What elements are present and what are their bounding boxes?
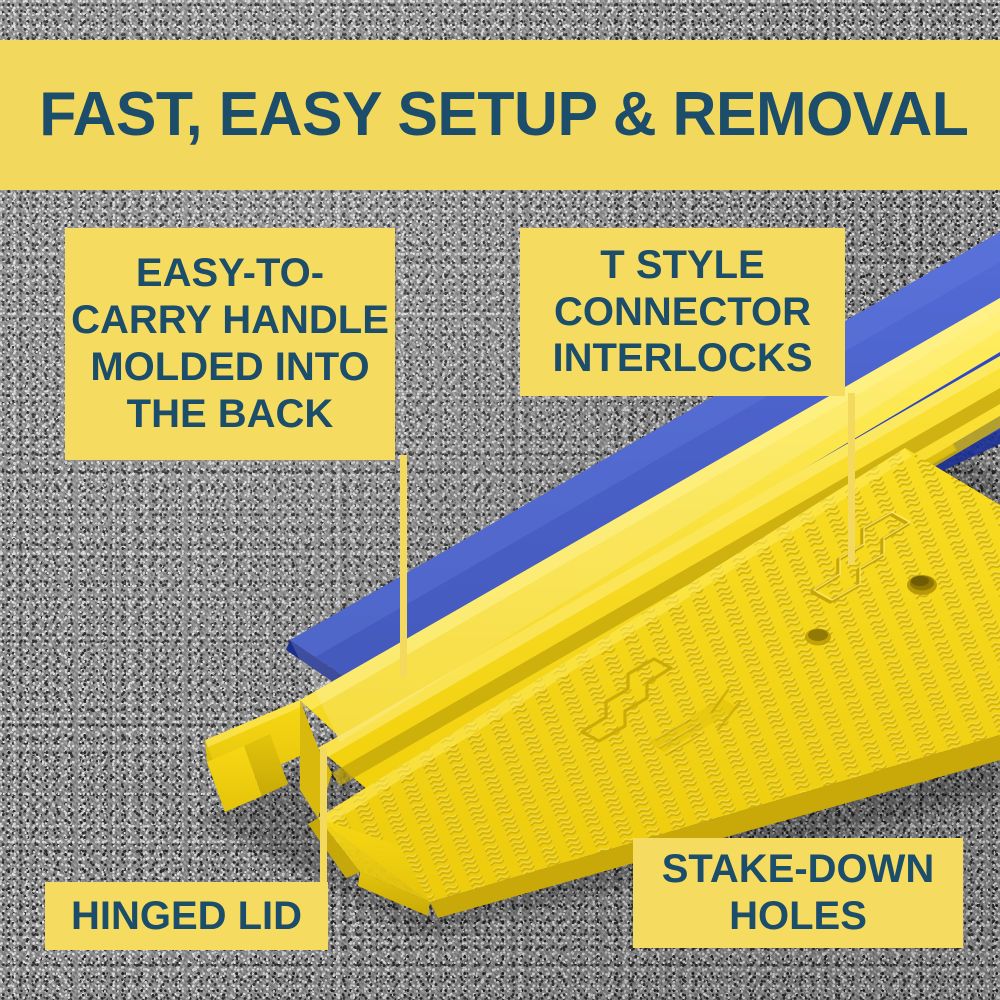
callout-line: HINGED LID (71, 893, 302, 940)
leader-line-hinged-lid (320, 748, 327, 888)
callout-line: CARRY HANDLE (71, 297, 389, 344)
callout-easy-to-carry-handle: EASY-TO- CARRY HANDLE MOLDED INTO THE BA… (65, 228, 395, 460)
callout-line: THE BACK (127, 391, 334, 438)
callout-line: STAKE-DOWN (662, 846, 935, 893)
callout-line: EASY-TO- (136, 250, 324, 297)
stake-down-hole-secondary (805, 629, 831, 646)
callout-line: T STYLE (600, 242, 764, 289)
callout-stake-down-holes: STAKE-DOWN HOLES (633, 838, 963, 948)
leader-line-handle (400, 455, 407, 677)
stake-down-hole (907, 575, 937, 595)
header-banner: FAST, EASY SETUP & REMOVAL (0, 40, 1000, 190)
callout-line: CONNECTOR (554, 289, 811, 336)
infographic-canvas: FAST, EASY SETUP & REMOVAL EASY-TO- CARR… (0, 0, 1000, 1000)
page-title: FAST, EASY SETUP & REMOVAL (0, 84, 968, 146)
callout-line: MOLDED INTO (90, 344, 369, 391)
callout-line: HOLES (729, 893, 867, 940)
callout-hinged-lid: HINGED LID (45, 882, 328, 950)
callout-line: INTERLOCKS (553, 335, 813, 382)
callout-t-style-connector: T STYLE CONNECTOR INTERLOCKS (520, 228, 845, 396)
leader-line-connector (848, 393, 855, 565)
